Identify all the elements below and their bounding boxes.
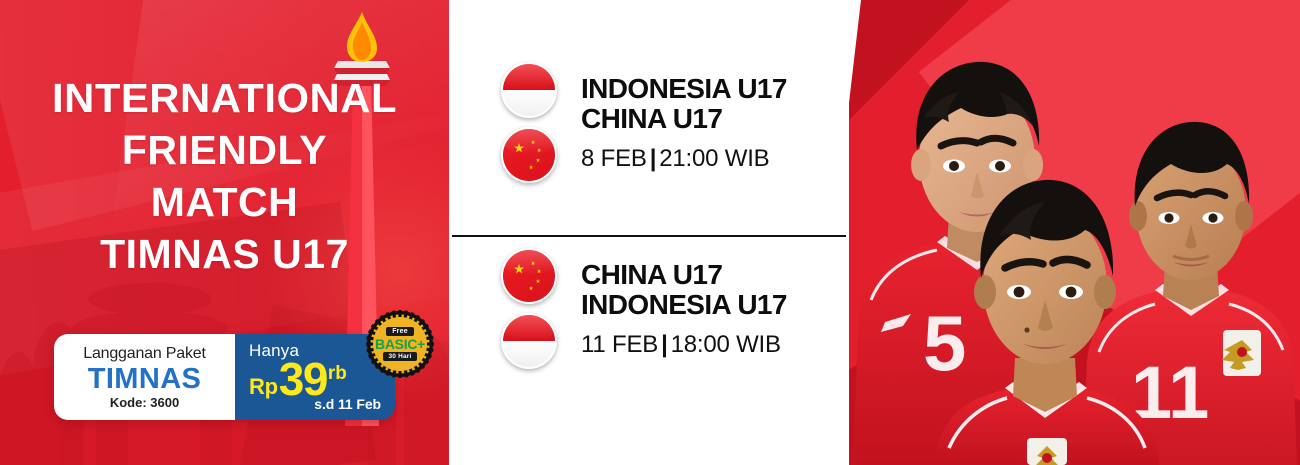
match-2-date: 11 FEB <box>581 331 658 358</box>
china-flag-icon <box>501 248 557 304</box>
match-2-flags <box>493 248 565 369</box>
match-2-details: CHINA U17 INDONESIA U17 11 FEB|18:00 WIB <box>581 260 787 357</box>
match-1-separator: | <box>650 145 657 172</box>
china-flag-icon <box>501 127 557 183</box>
match-2-datetime: 11 FEB|18:00 WIB <box>581 333 787 357</box>
subscription-package-section: Langganan Paket TIMNAS Kode: 3600 <box>54 334 235 420</box>
price-amount: 39 <box>279 360 327 400</box>
price-validity: s.d 11 Feb <box>314 396 381 412</box>
badge-tier-label: BASIC+ <box>375 337 425 351</box>
badge-duration-label: 30 Hari <box>383 352 416 361</box>
match-2-separator: | <box>661 331 668 358</box>
left-title-panel: INTERNATIONAL FRIENDLY MATCH TIMNAS U17 … <box>0 0 449 465</box>
match-2-home-team: CHINA U17 <box>581 260 787 290</box>
subscription-code: Kode: 3600 <box>110 396 179 410</box>
match-2-time: 18:00 WIB <box>671 331 781 358</box>
title-line-1: INTERNATIONAL <box>0 78 449 119</box>
badge-content: Free BASIC+ 30 Hari <box>366 310 434 378</box>
price-currency: Rp <box>249 376 278 398</box>
title-line-4: TIMNAS U17 <box>0 234 449 275</box>
indonesia-crest-icon <box>1027 438 1067 465</box>
free-basic-plus-badge: Free BASIC+ 30 Hari <box>366 310 434 378</box>
event-title: INTERNATIONAL FRIENDLY MATCH TIMNAS U17 <box>0 78 449 275</box>
match-2-away-team: INDONESIA U17 <box>581 290 787 320</box>
match-divider <box>452 235 846 237</box>
match-1-time: 21:00 WIB <box>659 145 769 172</box>
subscription-card[interactable]: Langganan Paket TIMNAS Kode: 3600 Hanya … <box>54 334 395 420</box>
match-1-details: INDONESIA U17 CHINA U17 8 FEB|21:00 WIB <box>581 74 787 171</box>
svg-text:5: 5 <box>923 299 966 387</box>
players-photo-panel: 5 <box>849 0 1300 465</box>
title-line-3: MATCH <box>0 182 449 223</box>
match-row-1[interactable]: INDONESIA U17 CHINA U17 8 FEB|21:00 WIB <box>449 62 849 183</box>
match-1-flags <box>493 62 565 183</box>
players-photo: 5 <box>849 0 1300 465</box>
timnas-u17-promo-banner: INTERNATIONAL FRIENDLY MATCH TIMNAS U17 … <box>0 0 1300 465</box>
indonesia-flag-icon <box>501 62 557 118</box>
subscription-label: Langganan Paket <box>83 345 205 363</box>
match-schedule-panel: INDONESIA U17 CHINA U17 8 FEB|21:00 WIB <box>449 0 849 465</box>
match-1-date: 8 FEB <box>581 145 647 172</box>
indonesia-crest-icon <box>1222 330 1261 376</box>
match-row-2[interactable]: CHINA U17 INDONESIA U17 11 FEB|18:00 WIB <box>449 248 849 369</box>
price-unit: rb <box>328 364 347 383</box>
match-1-home-team: INDONESIA U17 <box>581 74 787 104</box>
indonesia-flag-icon <box>501 313 557 369</box>
match-1-datetime: 8 FEB|21:00 WIB <box>581 147 787 171</box>
subscription-package-name: TIMNAS <box>88 364 202 394</box>
match-1-away-team: CHINA U17 <box>581 104 787 134</box>
badge-top-label: Free <box>386 327 414 336</box>
title-line-2: FRIENDLY <box>0 130 449 171</box>
